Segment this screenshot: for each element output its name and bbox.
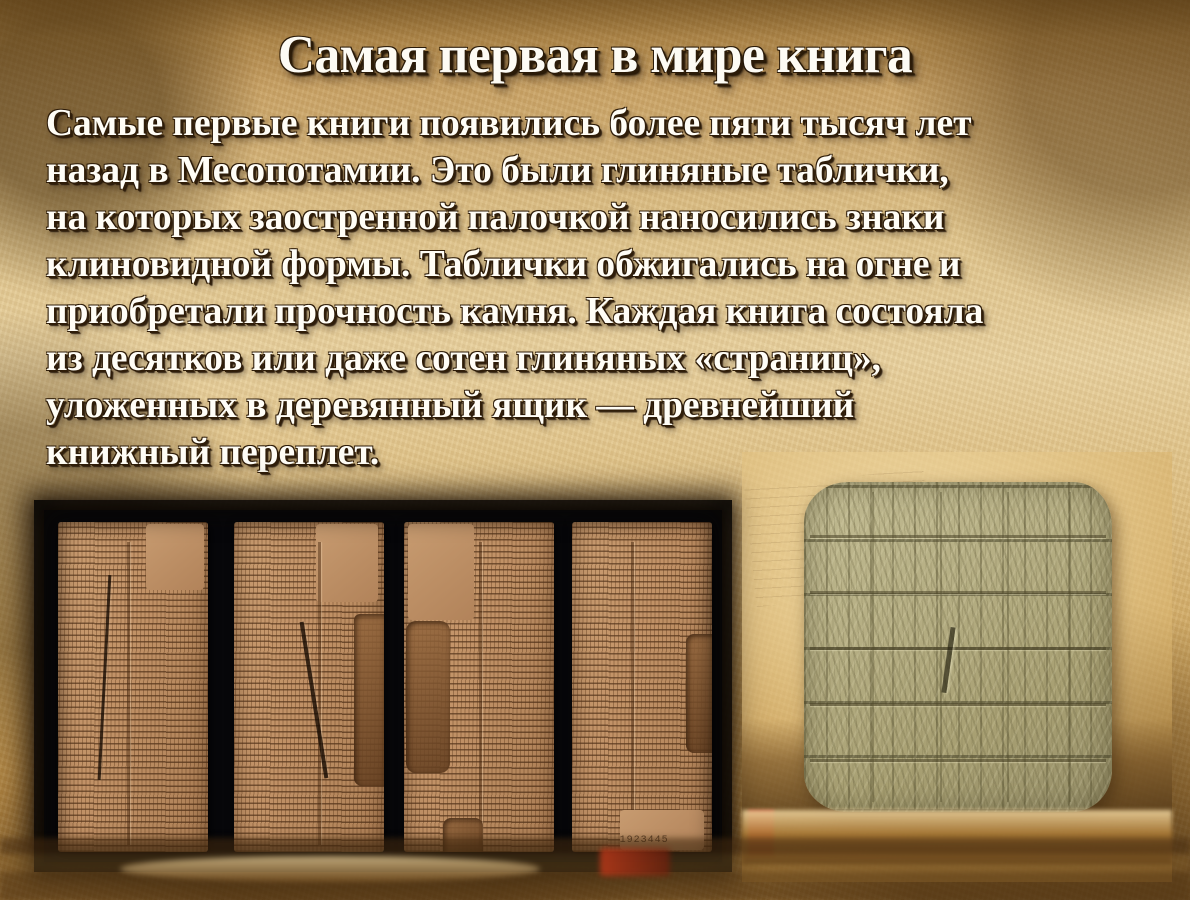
tablet-chipped-edge [686,634,712,753]
tablet-row-rule [810,647,1106,650]
tablet-row-rule [810,535,1106,538]
tablet-column-rule [479,542,482,846]
paragraph-line: уложенных в деревянный ящик — древнейший [46,382,1133,429]
tablet-column-rule [318,542,321,846]
tablet-column-rule [1069,492,1071,802]
tablet-row-rule [810,591,1106,594]
clay-tablet [404,522,554,852]
tablet-row-rule [810,759,1106,762]
tablet-column-rule [1007,492,1009,802]
page-title: Самая первая в мире книга [18,26,1172,84]
tablet-column-rule [127,542,130,846]
tablet-blank-corner [316,524,378,602]
clay-tablet [234,522,384,852]
tablet-blank-corner [146,524,204,590]
tablet-blank-corner [408,524,474,620]
tablet-crack [300,622,329,779]
slide-canvas: Самая первая в мире книга Самые первые к… [0,0,1190,900]
tablet-column-rule [940,492,942,802]
book-red-accent [600,848,670,876]
square-clay-tablet [804,482,1112,812]
tablet-crack [98,575,112,779]
clay-tablet [58,522,208,852]
clay-tablets-photo: 1923445 [44,510,722,862]
tablet-column-rule [872,492,874,802]
tablet-row-rule [810,703,1106,706]
paragraph-line: Самые первые книги появились более пяти … [46,100,1133,147]
paragraph-line: из десятков или даже сотен глиняных «стр… [46,335,1133,382]
body-paragraph: Самые первые книги появились более пяти … [46,100,1150,476]
clay-tablet: 1923445 [572,522,712,852]
square-tablet-photo [742,452,1172,882]
blurred-open-book [0,838,1190,900]
paragraph-line: клиновидной формы. Таблички обжигались н… [46,241,1133,288]
tablet-column-rule [631,542,634,846]
book-page-curve [120,856,540,882]
tablet-chipped-edge [406,621,450,773]
paragraph-line: приобретали прочность камня. Каждая книг… [46,288,1133,335]
paragraph-line: на которых заостренной палочкой наносили… [46,194,1133,241]
tablet-chipped-edge [354,614,384,786]
paragraph-line: назад в Месопотамии. Это были глиняные т… [46,147,1133,194]
